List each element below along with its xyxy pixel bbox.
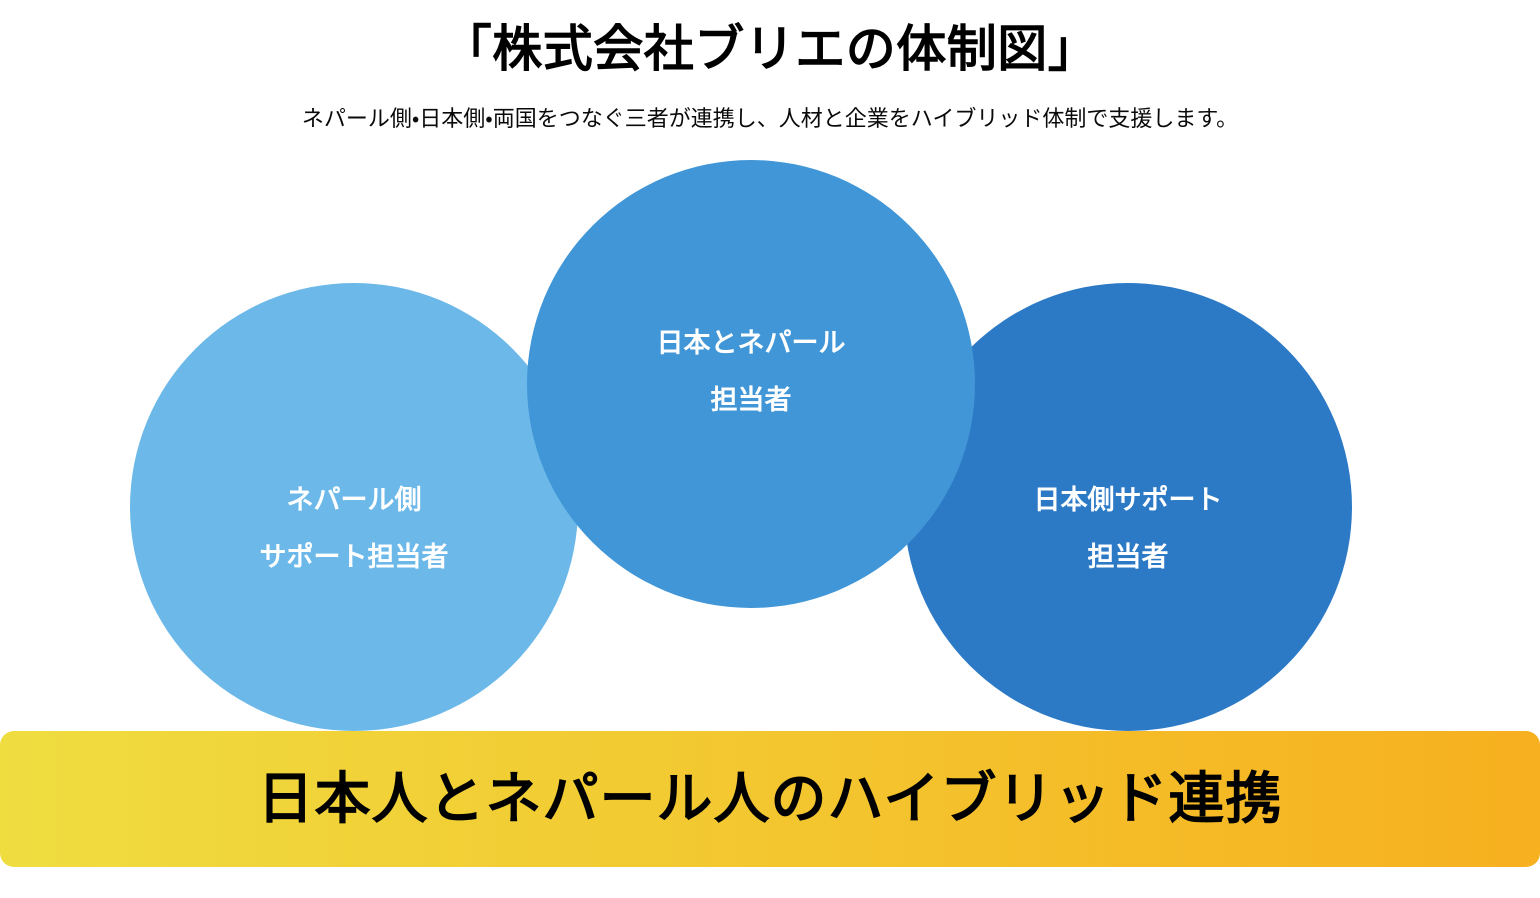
circle-nepal-support-line-2: サポート担当者 — [260, 544, 449, 571]
circle-nepal-support-line-1: ネパール側 — [260, 487, 449, 514]
circle-japan-nepal-liaison-line-1: 日本とネパール — [657, 330, 846, 357]
circle-nepal-support-label: ネパール側 サポート担当者 — [260, 487, 449, 571]
page-title: 「株式会社ブリエの体制図」 — [0, 18, 1540, 80]
circle-japan-side-support-line-2: 担当者 — [1034, 544, 1223, 571]
circle-japan-side-support-label: 日本側サポート 担当者 — [1034, 487, 1223, 571]
slide-canvas: 「株式会社ブリエの体制図」 ネパール側・日本側・両国をつなぐ三者が連携し、人材と… — [0, 0, 1540, 898]
circle-nepal-support: ネパール側 サポート担当者 — [130, 283, 578, 731]
hybrid-banner: 日本人とネパール人のハイブリッド連携 — [0, 731, 1540, 867]
circle-japan-nepal-liaison-line-2: 担当者 — [657, 387, 846, 414]
page-subtitle: ネパール側・日本側・両国をつなぐ三者が連携し、人材と企業をハイブリッド体制で支援… — [0, 103, 1540, 135]
hybrid-banner-label: 日本人とネパール人のハイブリッド連携 — [258, 771, 1283, 827]
circle-japan-nepal-liaison: 日本とネパール 担当者 — [527, 160, 975, 608]
circle-japan-side-support-line-1: 日本側サポート — [1034, 487, 1223, 514]
header: 「株式会社ブリエの体制図」 ネパール側・日本側・両国をつなぐ三者が連携し、人材と… — [0, 0, 1540, 150]
circle-japan-nepal-liaison-label: 日本とネパール 担当者 — [657, 330, 846, 414]
